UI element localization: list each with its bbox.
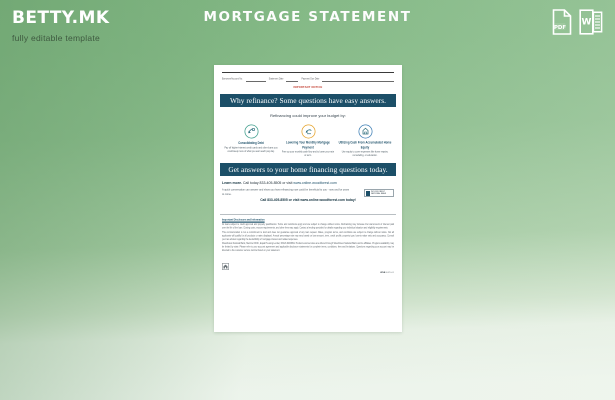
- cta-lead-bold: Learn more.: [222, 181, 242, 185]
- home-equity-cash-icon: [358, 124, 373, 139]
- disclosure-paragraph: This communication is not a commitment t…: [222, 232, 394, 242]
- disclosure-block: Important Disclosure and Information All…: [220, 218, 396, 252]
- screenshot-canvas: BETTY.MK fully editable template MORTGAG…: [0, 0, 615, 400]
- due-date-input[interactable]: [322, 79, 394, 82]
- cta-lead-line: Learn more. Call today 833-405-8505 or v…: [222, 181, 394, 186]
- benefit-body: Pay off higher-interest credit cards and…: [224, 148, 278, 155]
- statement-form-header: Borrower/Account No. Statement Date Paym…: [220, 71, 396, 90]
- benefit-heading: Lowering Your Monthly Mortgage Payment: [281, 141, 335, 149]
- document-preview[interactable]: Borrower/Account No. Statement Date Paym…: [214, 65, 402, 332]
- bank-logo-text: WOODFOREST NATIONAL BANK: [371, 190, 392, 196]
- cta-block: Learn more. Call today 833-405-8505 or v…: [220, 181, 396, 211]
- cta-subtext: A quick conversation can answer and show…: [222, 188, 350, 196]
- svg-text:PDF: PDF: [554, 25, 566, 31]
- page-header: BETTY.MK fully editable template MORTGAG…: [0, 0, 615, 56]
- debt-consolidation-icon: [244, 124, 259, 139]
- loan-number-label: Borrower/Account No.: [222, 79, 243, 82]
- divider: [222, 72, 394, 73]
- bank-logo-mark: [366, 191, 370, 196]
- icon-wrap: [338, 124, 392, 139]
- cta-website-link[interactable]: www.online.woodforest.com: [293, 181, 336, 185]
- statement-date-label: Statement Date: [269, 79, 284, 82]
- refinance-headline-banner: Why refinance? Some questions have easy …: [220, 94, 396, 107]
- bank-logo: WOODFOREST NATIONAL BANK: [364, 189, 394, 197]
- benefit-heading: Utilizing Cash From Accumulated Home Equ…: [338, 141, 392, 149]
- form-field-row: Borrower/Account No. Statement Date Paym…: [222, 76, 394, 82]
- important-notice: IMPORTANT NOTICE: [222, 86, 394, 91]
- footer-code-rest: 0425-01: [385, 272, 394, 274]
- benefit-heading: Consolidating Debt: [224, 142, 278, 146]
- refinance-lead-text: Refinancing could improve your budget by…: [220, 113, 396, 119]
- download-format-group: PDF W: [552, 9, 603, 40]
- footer-code: WNB 0425-01: [380, 272, 394, 275]
- disclosure-paragraph: All loans subject to credit approval and…: [222, 224, 394, 231]
- disclosure-title: Important Disclosure and Information: [222, 218, 394, 222]
- icon-wrap: [224, 124, 278, 139]
- due-date-label: Payment Due Date: [301, 79, 319, 82]
- word-download-icon[interactable]: W: [579, 9, 603, 40]
- svg-text:W: W: [582, 18, 592, 28]
- divider: [220, 214, 396, 215]
- statement-date-input[interactable]: [286, 79, 298, 82]
- document-footer: WNB 0425-01: [220, 257, 396, 278]
- cta-lead-text: Call today 833-405-8505 or visit: [242, 181, 293, 185]
- icon-wrap: [281, 124, 335, 139]
- benefits-row: Consolidating Debt Pay off higher-intere…: [220, 124, 396, 158]
- equal-housing-lender-icon: [222, 257, 229, 275]
- cta-banner: Get answers to your home financing quest…: [220, 163, 396, 176]
- cta-call-line: Call 833-405-8505 or visit www.online.wo…: [222, 198, 394, 203]
- page-title: MORTGAGE STATEMENT: [0, 9, 615, 25]
- benefit-body: Free up your monthly cash flow and to lo…: [281, 151, 335, 158]
- pdf-download-icon[interactable]: PDF: [552, 9, 572, 40]
- benefit-body: Use equity to cover expenses like home r…: [338, 151, 392, 158]
- disclosure-paragraph: Woodforest National Bank, Member FDIC, E…: [222, 243, 394, 253]
- benefit-column: Consolidating Debt Pay off higher-intere…: [224, 124, 278, 158]
- benefit-column: Utilizing Cash From Accumulated Home Equ…: [338, 124, 392, 158]
- brand-tagline: fully editable template: [12, 33, 109, 43]
- lower-payment-icon: [301, 124, 316, 139]
- benefit-column: Lowering Your Monthly Mortgage Payment F…: [281, 124, 335, 158]
- loan-number-input[interactable]: [246, 79, 266, 82]
